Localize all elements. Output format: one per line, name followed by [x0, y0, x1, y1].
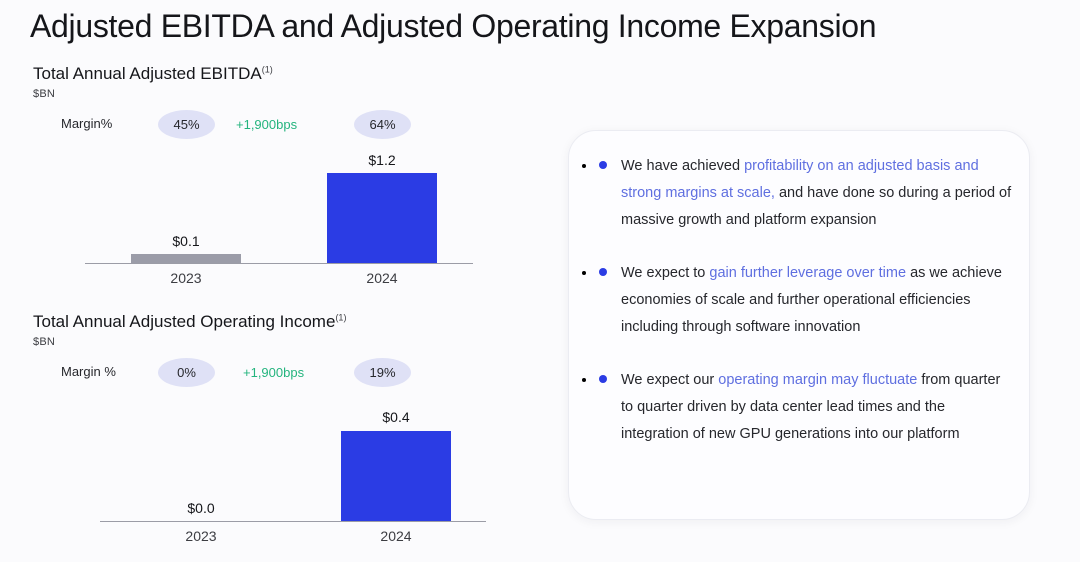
bar-category-label-2023: 2023	[146, 528, 256, 544]
bullet-text-part1: We expect our	[621, 372, 718, 388]
margin-delta-badge: +1,900bps	[236, 110, 297, 139]
bullet-text-part1: We expect to	[621, 265, 709, 281]
chart-unit-label: $BN	[33, 88, 55, 100]
margin-row-label: Margin%	[61, 116, 112, 131]
bar-chart-adjusted-ebitda: $0.1 2023 $1.2 2024	[0, 144, 520, 304]
footnote-marker: (1)	[262, 64, 273, 74]
bar-category-label-2024: 2024	[341, 528, 451, 544]
margin-pill-2023: 45%	[158, 110, 215, 139]
chart-axis-line	[85, 263, 473, 264]
bullet-dot-icon	[599, 268, 607, 276]
chart-axis-line	[100, 521, 486, 522]
bullet-dot-icon	[599, 161, 607, 169]
bullet-dot-icon	[599, 375, 607, 383]
bar-2023	[131, 254, 241, 263]
commentary-bullet-list: We have achieved profitability on an adj…	[597, 153, 1015, 448]
list-item: We expect to gain further leverage over …	[597, 260, 1015, 341]
bar-value-label-2024: $0.4	[341, 409, 451, 425]
chart-title-text: Total Annual Adjusted Operating Income	[33, 312, 335, 331]
bar-2024	[327, 173, 437, 263]
bullet-text-part1: We have achieved	[621, 158, 744, 174]
chart-title-adjusted-ebitda: Total Annual Adjusted EBITDA(1)	[33, 64, 273, 84]
bar-value-label-2023: $0.0	[146, 500, 256, 516]
bullet-text-highlight: gain further leverage over time	[709, 265, 906, 281]
charts-column: Total Annual Adjusted EBITDA(1) $BN Marg…	[0, 62, 540, 562]
margin-row-label: Margin %	[61, 364, 116, 379]
chart-title-text: Total Annual Adjusted EBITDA	[33, 64, 262, 83]
bar-category-label-2024: 2024	[327, 270, 437, 286]
bullet-text: We have achieved profitability on an adj…	[621, 153, 1015, 234]
bullet-text-highlight: operating margin may fluctuate	[718, 372, 917, 388]
footnote-marker: (1)	[335, 312, 346, 322]
commentary-card: We have achieved profitability on an adj…	[568, 130, 1030, 520]
slide-root: Adjusted EBITDA and Adjusted Operating I…	[0, 0, 1080, 562]
list-item: We have achieved profitability on an adj…	[597, 153, 1015, 234]
page-title: Adjusted EBITDA and Adjusted Operating I…	[30, 8, 876, 45]
bullet-text: We expect to gain further leverage over …	[621, 260, 1015, 341]
margin-pill-2024: 64%	[354, 110, 411, 139]
chart-title-adjusted-operating-income: Total Annual Adjusted Operating Income(1…	[33, 312, 346, 332]
list-item: We expect our operating margin may fluct…	[597, 367, 1015, 448]
bar-2024	[341, 431, 451, 521]
bar-chart-adjusted-operating-income: $0.0 2023 $0.4 2024	[0, 382, 540, 542]
chart-unit-label: $BN	[33, 336, 55, 348]
margin-row-ebitda: Margin% 45% +1,900bps 64%	[33, 110, 513, 140]
bar-category-label-2023: 2023	[131, 270, 241, 286]
bar-value-label-2023: $0.1	[131, 233, 241, 249]
bar-value-label-2024: $1.2	[327, 152, 437, 168]
bullet-text: We expect our operating margin may fluct…	[621, 367, 1015, 448]
